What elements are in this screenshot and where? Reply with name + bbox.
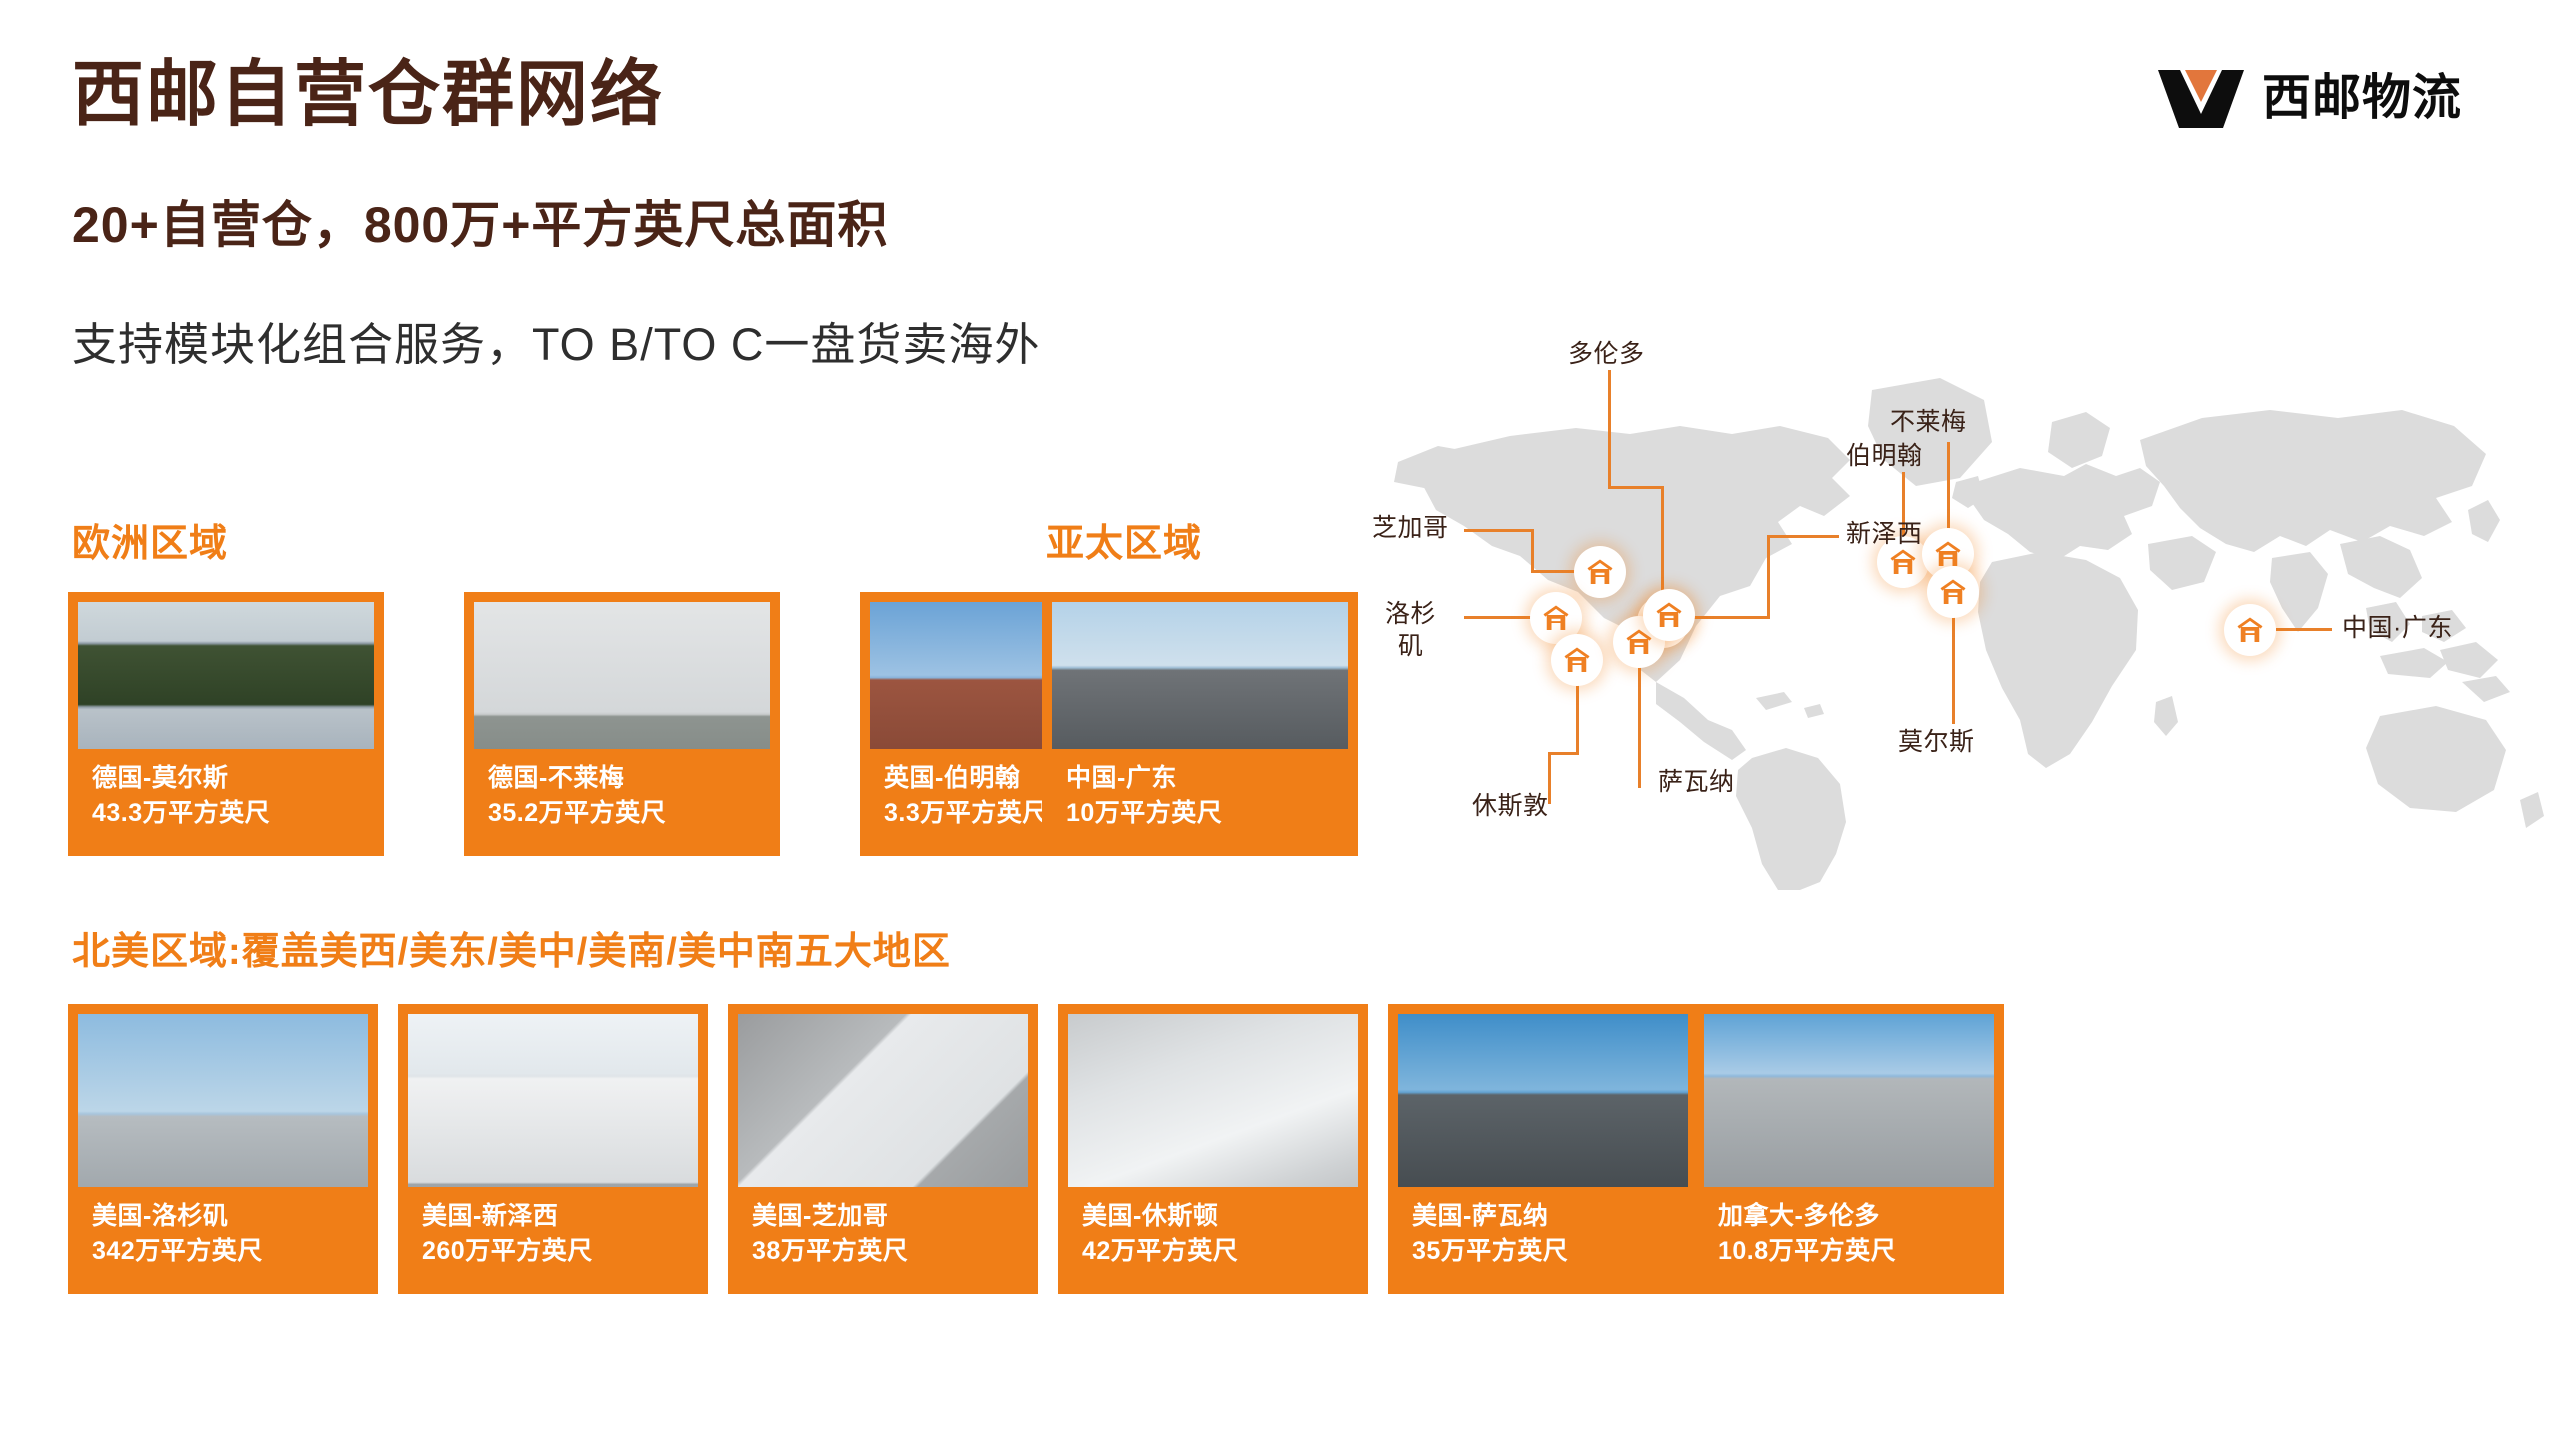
map-label-bremen: 不莱梅 [1890, 408, 1967, 437]
map-label-moers: 莫尔斯 [1898, 728, 1975, 757]
warehouse-card[interactable]: 美国-萨瓦纳 35万平方英尺 [1388, 1004, 1698, 1294]
warehouse-card[interactable]: 加拿大-多伦多 10.8万平方英尺 [1694, 1004, 2004, 1294]
warehouse-name: 美国-萨瓦纳 [1412, 1199, 1674, 1234]
map-marker-china-guangdong[interactable] [2224, 604, 2276, 656]
warehouse-card-caption: 加拿大-多伦多 10.8万平方英尺 [1704, 1187, 1994, 1284]
leader-line-savannah [1638, 648, 1641, 788]
warehouse-icon [1888, 547, 1918, 577]
warehouse-icon [1585, 557, 1615, 587]
slide-root: 西邮自营仓群网络 20+自营仓，800万+平方英尺总面积 支持模块化组合服务，T… [0, 0, 2560, 1440]
warehouse-icon [1654, 600, 1684, 630]
region-heading-apac: 亚太区域 [1046, 512, 1202, 567]
map-label-houston: 休斯敦 [1472, 792, 1549, 821]
leader-line-toronto [1608, 370, 1611, 488]
map-label-los-angeles: 洛杉 [1385, 600, 1436, 629]
warehouse-name: 美国-新泽西 [422, 1199, 684, 1234]
map-label-toronto: 多伦多 [1568, 340, 1645, 369]
warehouse-card-caption: 美国-新泽西 260万平方英尺 [408, 1187, 698, 1284]
map-marker-chicago[interactable] [1574, 546, 1626, 598]
warehouse-card-caption: 中国-广东 10万平方英尺 [1052, 749, 1348, 846]
warehouse-card[interactable]: 美国-新泽西 260万平方英尺 [398, 1004, 708, 1294]
warehouse-area: 35.2万平方英尺 [488, 796, 756, 831]
warehouse-card[interactable]: 美国-洛杉矶 342万平方英尺 [68, 1004, 378, 1294]
map-label-los-angeles-2: 矶 [1398, 632, 1424, 661]
w-logo-icon [2158, 68, 2244, 128]
world-map: 多伦多 芝加哥 洛杉 矶 休斯敦 萨瓦纳 新泽西 伯明翰 不莱梅 莫尔斯 中国·… [1380, 330, 2550, 890]
warehouse-card-caption: 德国-莫尔斯 43.3万平方英尺 [78, 749, 374, 846]
warehouse-area: 43.3万平方英尺 [92, 796, 360, 831]
map-marker-houston[interactable] [1551, 634, 1603, 686]
brand-logo: 西邮物流 [2158, 68, 2462, 128]
map-marker-new-jersey[interactable] [1643, 589, 1695, 641]
warehouse-name: 德国-不莱梅 [488, 761, 756, 796]
warehouse-name: 美国-芝加哥 [752, 1199, 1014, 1234]
region-heading-europe: 欧洲区域 [72, 512, 228, 567]
warehouse-card[interactable]: 美国-休斯顿 42万平方英尺 [1058, 1004, 1368, 1294]
leader-line-houston [1548, 752, 1579, 755]
warehouse-icon [2235, 615, 2265, 645]
warehouse-name: 中国-广东 [1066, 761, 1334, 796]
warehouse-card-caption: 美国-萨瓦纳 35万平方英尺 [1398, 1187, 1688, 1284]
map-label-birmingham: 伯明翰 [1846, 442, 1923, 471]
warehouse-area: 35万平方英尺 [1412, 1234, 1674, 1269]
warehouse-name: 美国-休斯顿 [1082, 1199, 1344, 1234]
page-subtitle-secondary: 支持模块化组合服务，TO B/TO C一盘货卖海外 [72, 320, 1040, 370]
warehouse-icon [1562, 645, 1592, 675]
warehouse-name: 美国-洛杉矶 [92, 1199, 354, 1234]
warehouse-card[interactable]: 中国-广东 10万平方英尺 [1042, 592, 1358, 856]
warehouse-card[interactable]: 德国-莫尔斯 43.3万平方英尺 [68, 592, 384, 856]
warehouse-card[interactable]: 德国-不莱梅 35.2万平方英尺 [464, 592, 780, 856]
leader-line-new-jersey [1767, 535, 1770, 619]
warehouse-card[interactable]: 美国-芝加哥 38万平方英尺 [728, 1004, 1038, 1294]
leader-line-new-jersey [1767, 535, 1839, 538]
logo-wordmark: 西邮物流 [2262, 74, 2462, 123]
warehouse-card-caption: 美国-芝加哥 38万平方英尺 [738, 1187, 1028, 1284]
leader-line-toronto [1608, 486, 1664, 489]
warehouse-area: 260万平方英尺 [422, 1234, 684, 1269]
warehouse-area: 10万平方英尺 [1066, 796, 1334, 831]
warehouse-card-caption: 德国-不莱梅 35.2万平方英尺 [474, 749, 770, 846]
warehouse-area: 38万平方英尺 [752, 1234, 1014, 1269]
warehouse-name: 德国-莫尔斯 [92, 761, 360, 796]
leader-line-toronto [1661, 486, 1664, 596]
page-title: 西邮自营仓群网络 [72, 58, 664, 134]
warehouse-icon [1541, 603, 1571, 633]
warehouse-card-caption: 美国-休斯顿 42万平方英尺 [1068, 1187, 1358, 1284]
warehouse-name: 加拿大-多伦多 [1718, 1199, 1980, 1234]
map-label-china: 中国·广东 [2342, 614, 2453, 643]
warehouse-card-caption: 美国-洛杉矶 342万平方英尺 [78, 1187, 368, 1284]
warehouse-icon [1938, 577, 1968, 607]
map-label-new-jersey: 新泽西 [1846, 520, 1923, 549]
map-marker-moers[interactable] [1927, 566, 1979, 618]
page-subtitle-primary: 20+自营仓，800万+平方英尺总面积 [72, 198, 888, 253]
warehouse-area: 10.8万平方英尺 [1718, 1234, 1980, 1269]
map-label-savannah: 萨瓦纳 [1658, 768, 1735, 797]
map-label-chicago: 芝加哥 [1372, 514, 1449, 543]
leader-line-new-jersey [1690, 616, 1770, 619]
leader-line-chicago [1531, 529, 1534, 573]
warehouse-icon [1933, 539, 1963, 569]
leader-line-china [2276, 628, 2332, 631]
warehouse-area: 42万平方英尺 [1082, 1234, 1344, 1269]
warehouse-area: 342万平方英尺 [92, 1234, 354, 1269]
region-heading-north-america: 北美区域:覆盖美西/美东/美中/美南/美中南五大地区 [72, 920, 951, 975]
leader-line-chicago [1464, 529, 1534, 532]
